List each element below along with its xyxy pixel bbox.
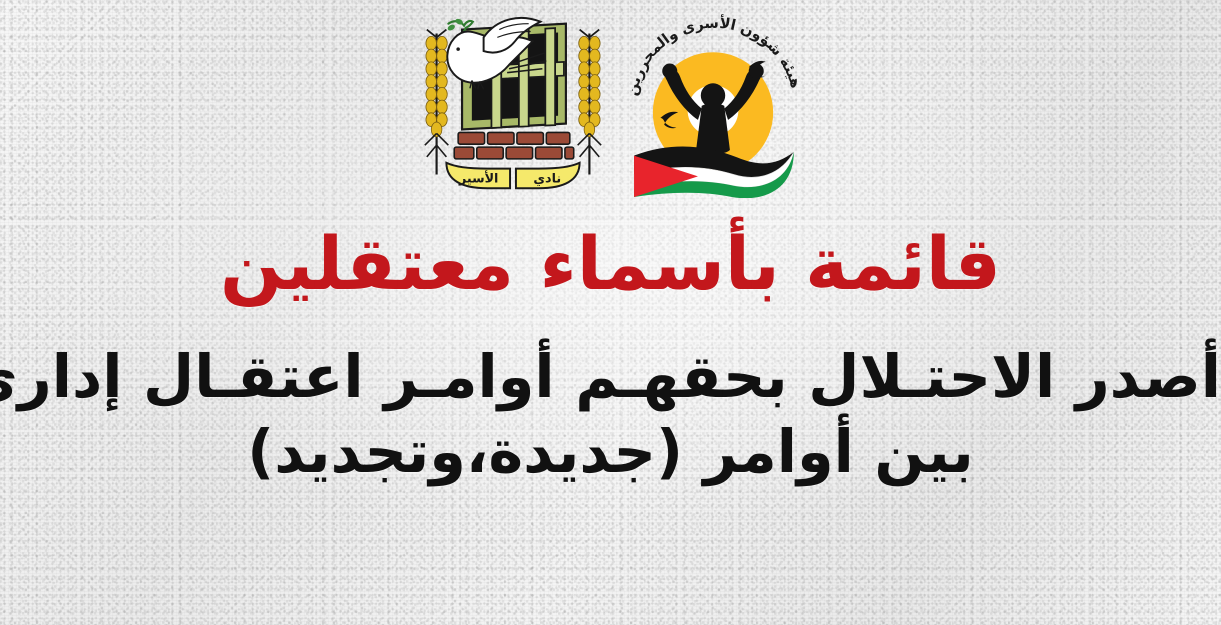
brick-wall-icon — [454, 132, 574, 158]
page-title-red: قائمة بأسماء معتقلين — [0, 228, 1221, 302]
wheat-stalk-right-icon — [577, 30, 601, 175]
poster-canvas: الأسير نادي — [0, 0, 1221, 625]
palestinian-flag-wave-icon — [634, 147, 794, 198]
headline-block: قائمة بأسماء معتقلين أصدر الاحتـلال بحقه… — [0, 228, 1221, 485]
ribbon-text-right: نادي — [533, 171, 561, 186]
logo-row: الأسير نادي — [0, 8, 1221, 204]
prisoners-club-logo: الأسير نادي — [415, 8, 611, 200]
ribbon-banner: الأسير نادي — [446, 163, 579, 188]
commission-emblem-icon: هيئة شؤون الأسرى والمحررين — [619, 8, 807, 198]
body-line-2: بين أوامر (جديدة،وتجديد) — [0, 419, 1221, 485]
ribbon-text-left: الأسير — [457, 170, 497, 186]
body-line-1: أصدر الاحتـلال بحقهـم أوامـر اعتقـال إدا… — [0, 344, 1221, 410]
wheat-stalk-left-icon — [424, 30, 448, 175]
commission-detainees-affairs-logo: هيئة شؤون الأسرى والمحررين — [619, 8, 807, 198]
prisoners-club-emblem-icon: الأسير نادي — [415, 8, 611, 200]
